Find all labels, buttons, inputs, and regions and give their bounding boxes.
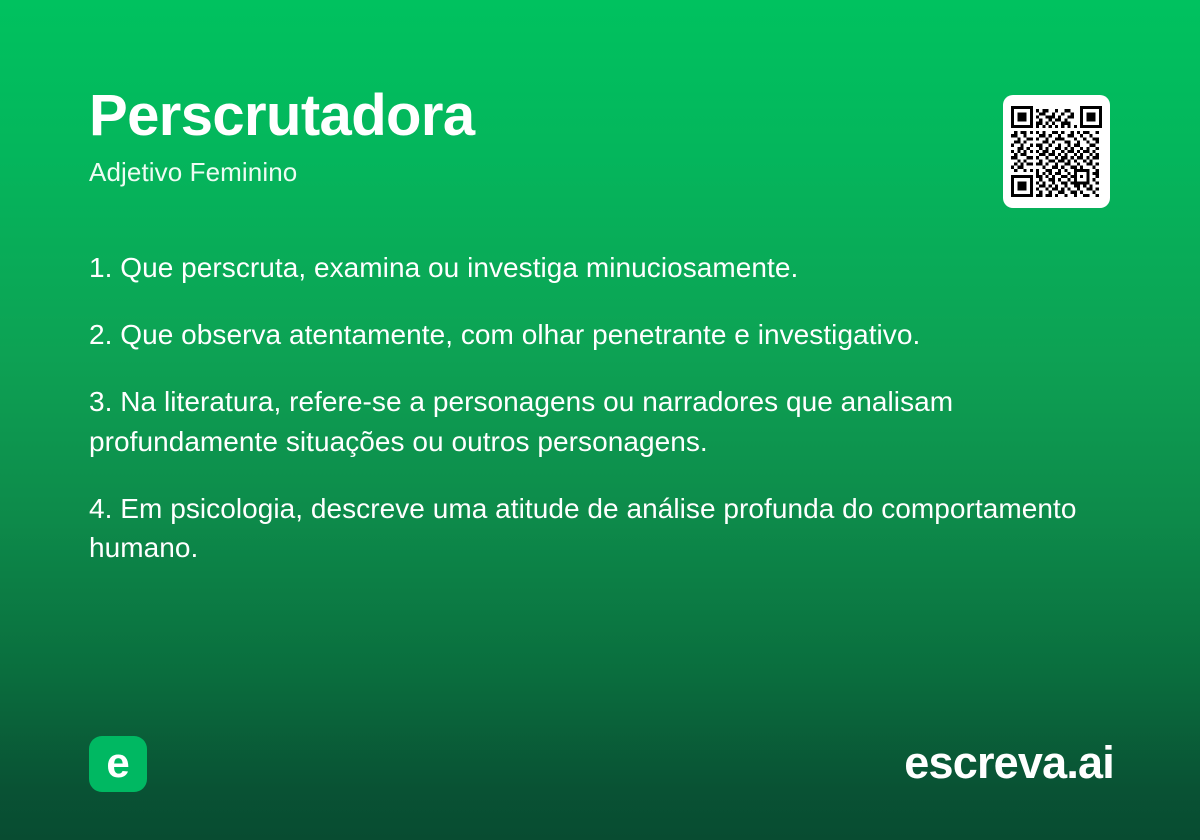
definition-item: 3. Na literatura, refere-se a personagen… <box>89 382 1089 460</box>
card-header: Perscrutadora Adjetivo Feminino <box>89 86 969 188</box>
card-footer: e escreva.ai <box>0 736 1200 792</box>
definitions-list: 1. Que perscruta, examina ou investiga m… <box>89 248 1089 567</box>
definition-item: 1. Que perscruta, examina ou investiga m… <box>89 248 1089 287</box>
definition-item: 2. Que observa atentamente, com olhar pe… <box>89 315 1089 354</box>
brand-logo-letter: e <box>106 742 129 784</box>
word-class-label: Adjetivo Feminino <box>89 158 969 188</box>
brand-logo: e <box>89 736 147 792</box>
definition-item: 4. Em psicologia, descreve uma atitude d… <box>89 489 1089 567</box>
brand-name: escreva.ai <box>904 740 1114 785</box>
qr-code-image <box>1011 103 1102 200</box>
definition-card: Perscrutadora Adjetivo Feminino <box>0 0 1200 840</box>
page-title: Perscrutadora <box>89 86 969 146</box>
qr-code[interactable] <box>1003 95 1110 208</box>
